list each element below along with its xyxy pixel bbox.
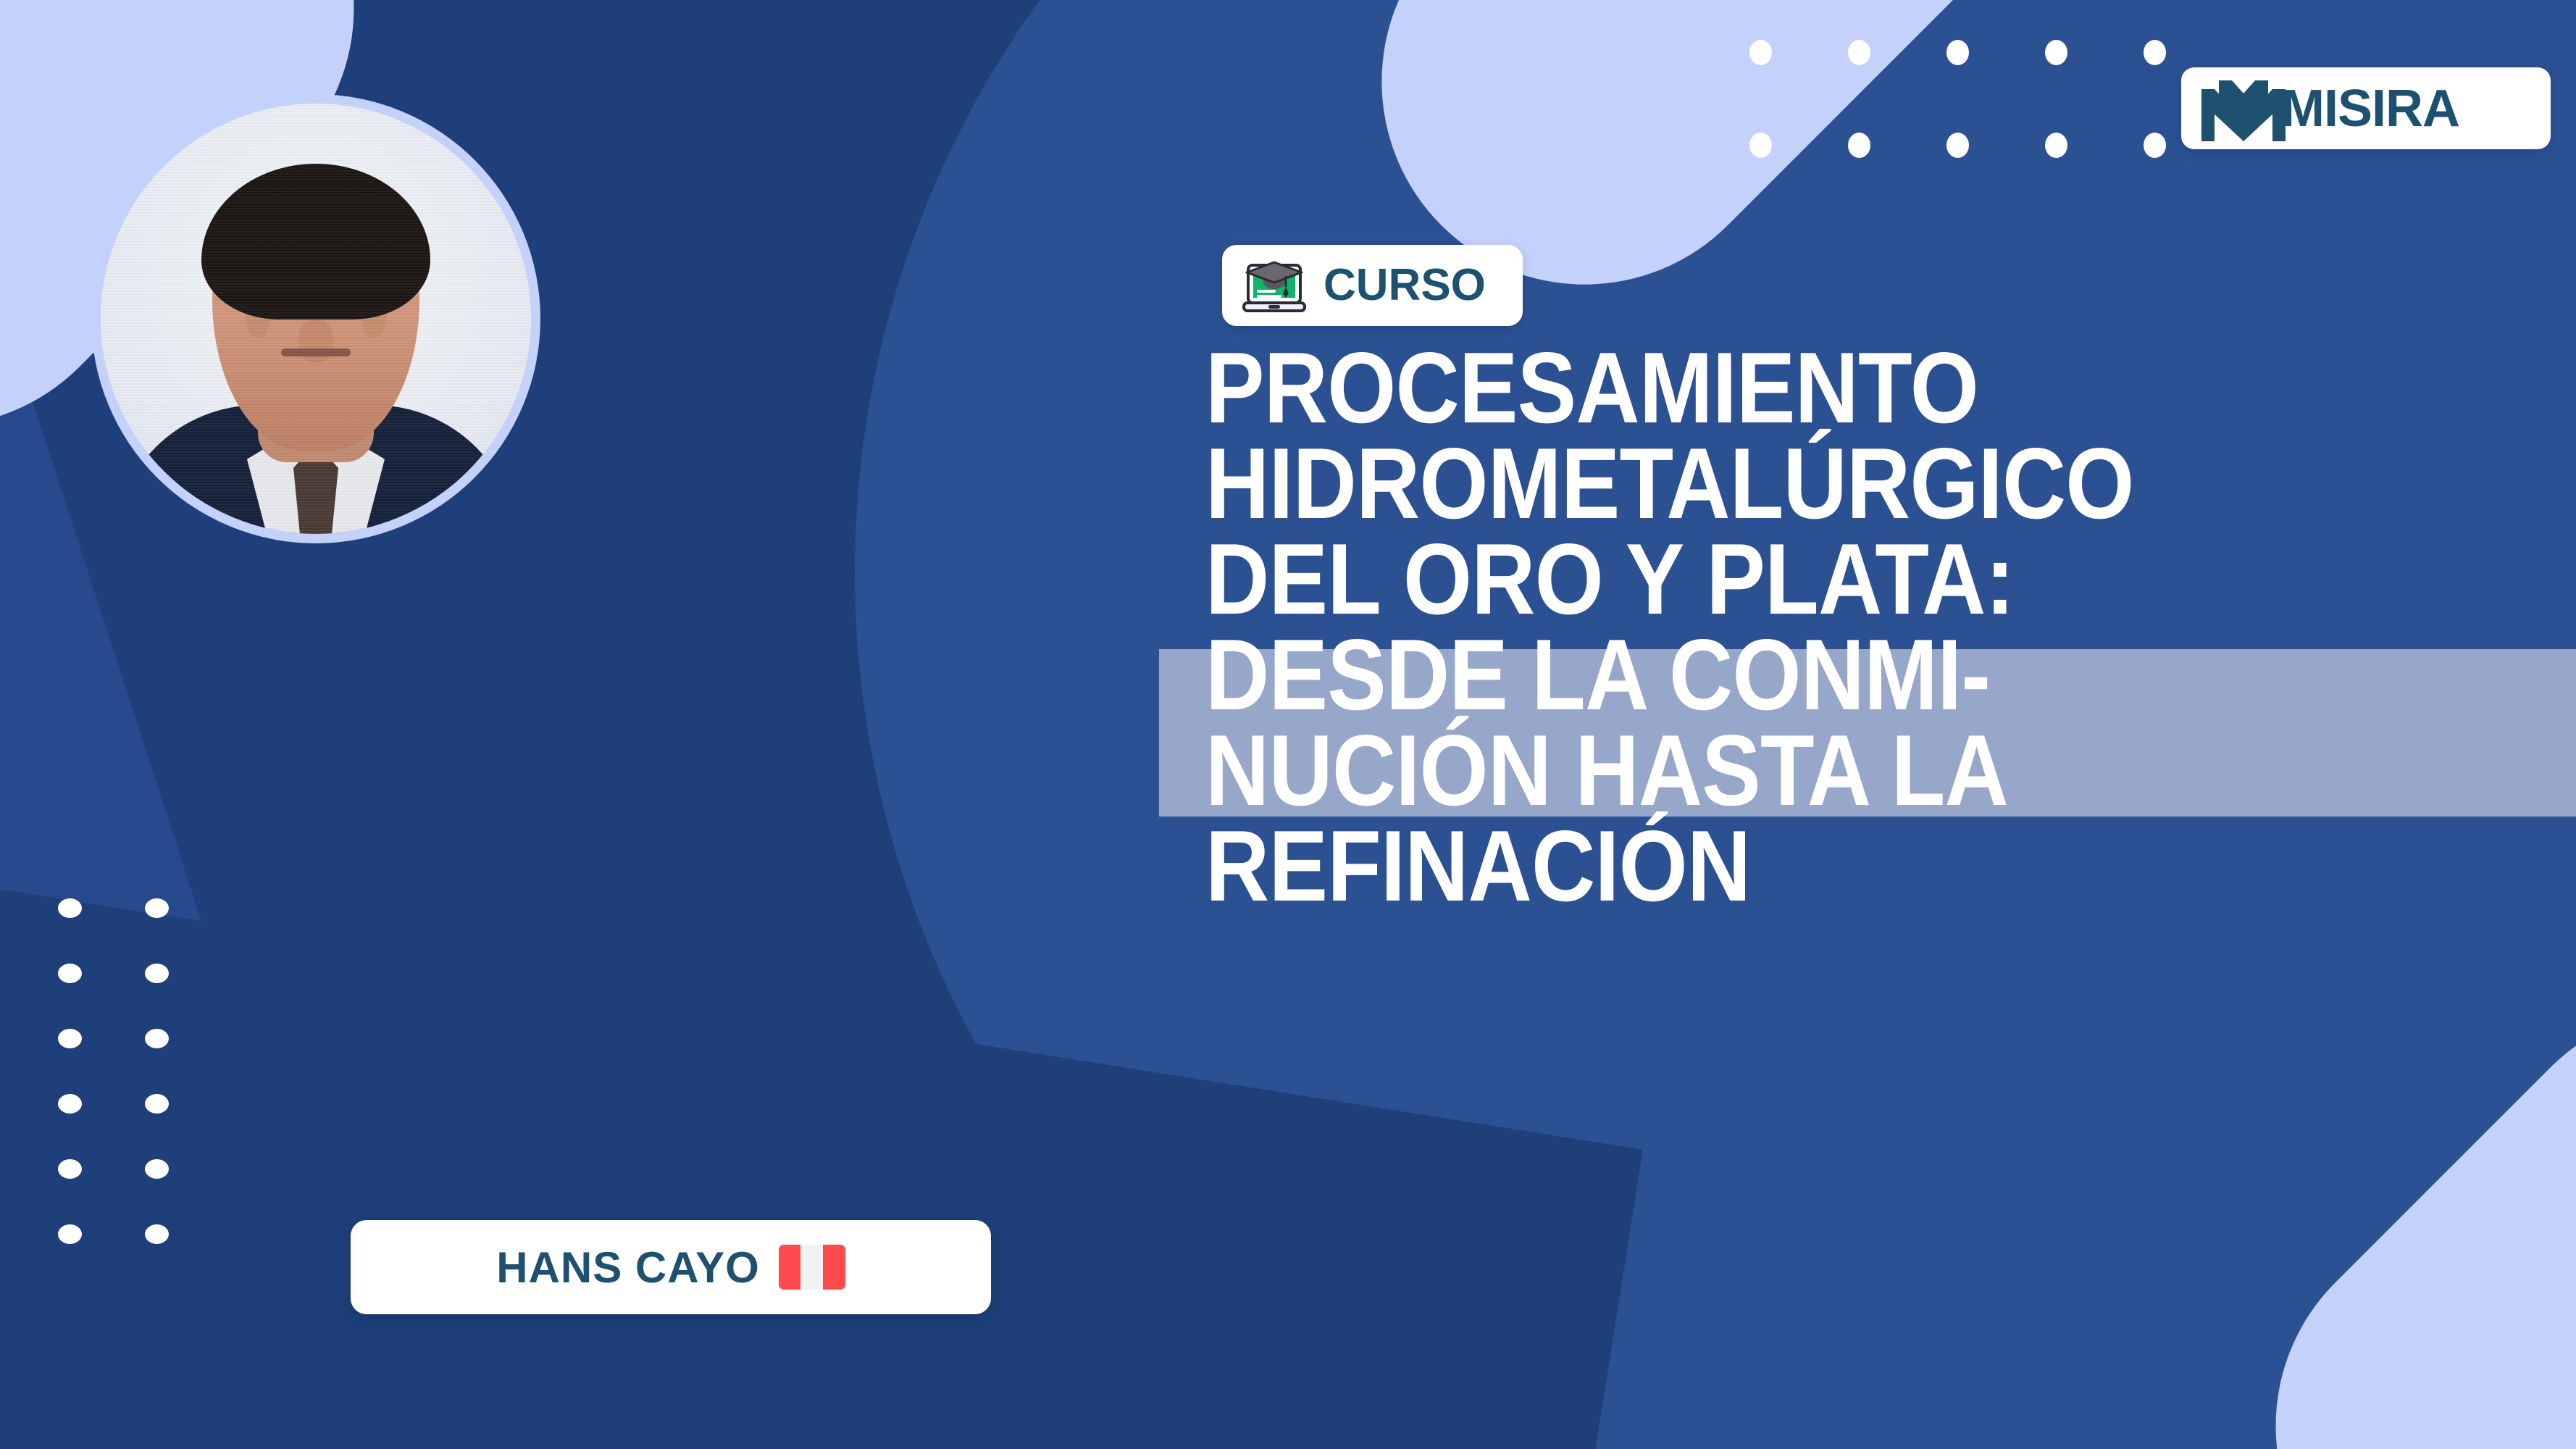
misira-m-monogram-icon <box>2200 76 2287 141</box>
page-title-line-3: DEL ORO Y PLATA: <box>1205 532 2410 627</box>
decorative-dot <box>58 1224 82 1244</box>
promo-banner: HANS CAYO MISIRA <box>0 0 2576 1449</box>
decorative-dot <box>58 1029 82 1048</box>
presenter-name: HANS CAYO <box>496 1243 760 1293</box>
portrait-scanline-texture <box>101 104 531 534</box>
curso-badge[interactable]: CURSO <box>1222 245 1523 326</box>
dot-grid-left <box>58 898 169 1244</box>
decorative-dot <box>58 1094 82 1114</box>
decorative-dot <box>145 964 169 983</box>
page-title-line-6: REFINACIÓN <box>1205 819 2410 914</box>
decorative-dot <box>145 1224 169 1244</box>
page-title-line-1: PROCESAMIENTO <box>1205 341 2410 436</box>
decorative-dot <box>145 898 169 918</box>
decorative-dot <box>2144 133 2166 158</box>
decorative-dot <box>1848 133 1870 158</box>
brand-logo-text: MISIRA <box>2281 83 2459 135</box>
brand-logo-badge[interactable]: MISIRA <box>2181 67 2551 149</box>
decorative-dot <box>1749 133 1772 158</box>
decorative-dot <box>58 898 82 918</box>
decorative-dot <box>2045 40 2067 65</box>
page-title-line-4: DESDE LA CONMI- <box>1205 627 2410 723</box>
decorative-dot <box>1749 40 1772 65</box>
decorative-dot <box>2045 133 2067 158</box>
dot-grid-top-right <box>1749 40 2166 158</box>
decorative-dot <box>145 1159 169 1179</box>
presenter-name-badge: HANS CAYO <box>351 1220 991 1314</box>
peru-flag-icon <box>779 1245 845 1290</box>
avatar <box>91 94 540 543</box>
decorative-dot <box>145 1029 169 1048</box>
decorative-dot <box>1946 40 1969 65</box>
page-title-line-5: NUCIÓN HASTA LA <box>1205 723 2410 819</box>
page-title-line-2: HIDROMETALÚRGICO <box>1205 436 2410 532</box>
curso-label: CURSO <box>1323 263 1486 308</box>
decorative-dot <box>58 1159 82 1179</box>
laptop-graduation-cap-icon <box>1241 255 1308 316</box>
decorative-dot <box>58 964 82 983</box>
decorative-dot <box>2144 40 2166 65</box>
page-title: PROCESAMIENTOHIDROMETALÚRGICODEL ORO Y P… <box>1205 341 2575 914</box>
decorative-dot <box>145 1094 169 1114</box>
decorative-dot <box>1848 40 1870 65</box>
portrait-photo <box>101 104 531 534</box>
decorative-dot <box>1946 133 1969 158</box>
